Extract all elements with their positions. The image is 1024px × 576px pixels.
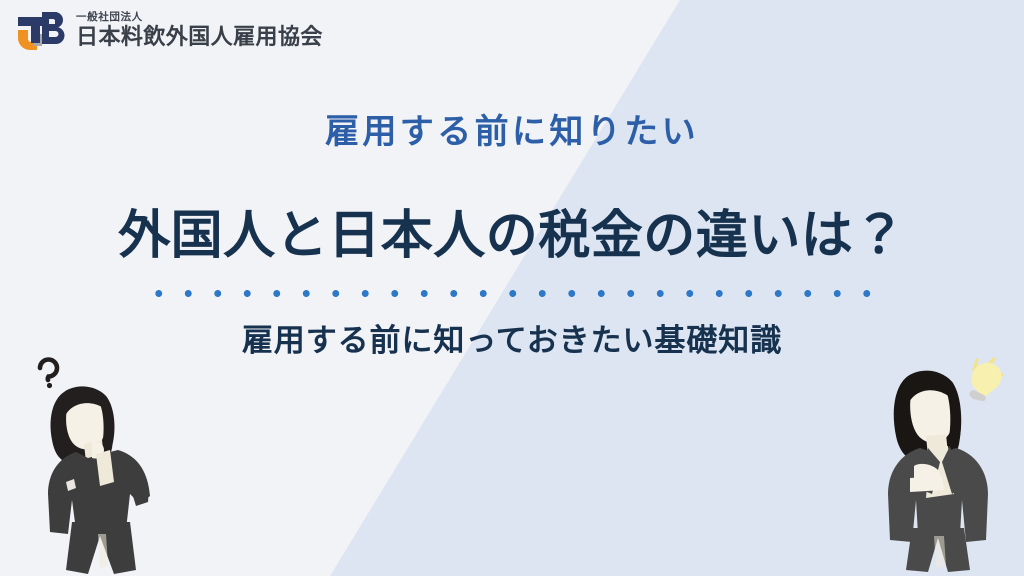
logo-name: 日本料飲外国人雇用協会 [76,26,323,48]
logo-text-block: 一般社団法人 日本料飲外国人雇用協会 [76,12,323,49]
confused-businesswoman-graphic [18,354,183,576]
eyebrow-text: 雇用する前に知りたい [0,112,1024,153]
lightbulb-icon [969,359,1002,401]
question-mark-icon [40,360,57,389]
idea-businesswoman-graphic [856,344,1016,576]
logo-kicker: 一般社団法人 [76,12,323,23]
confused-businesswoman-illustration [18,354,183,576]
article-title-card: 一般社団法人 日本料飲外国人雇用協会 雇用する前に知りたい 外国人と日本人の税金… [0,0,1024,576]
dotted-divider [144,289,880,298]
jb-monogram-icon [14,8,66,52]
title-content-block: 雇用する前に知りたい 外国人と日本人の税金の違いは？ 雇用する前に知っておきたい… [0,112,1024,359]
page-title: 外国人と日本人の税金の違いは？ [0,205,1024,267]
organization-logo[interactable]: 一般社団法人 日本料飲外国人雇用協会 [14,8,323,52]
idea-businesswoman-illustration [856,344,1016,576]
